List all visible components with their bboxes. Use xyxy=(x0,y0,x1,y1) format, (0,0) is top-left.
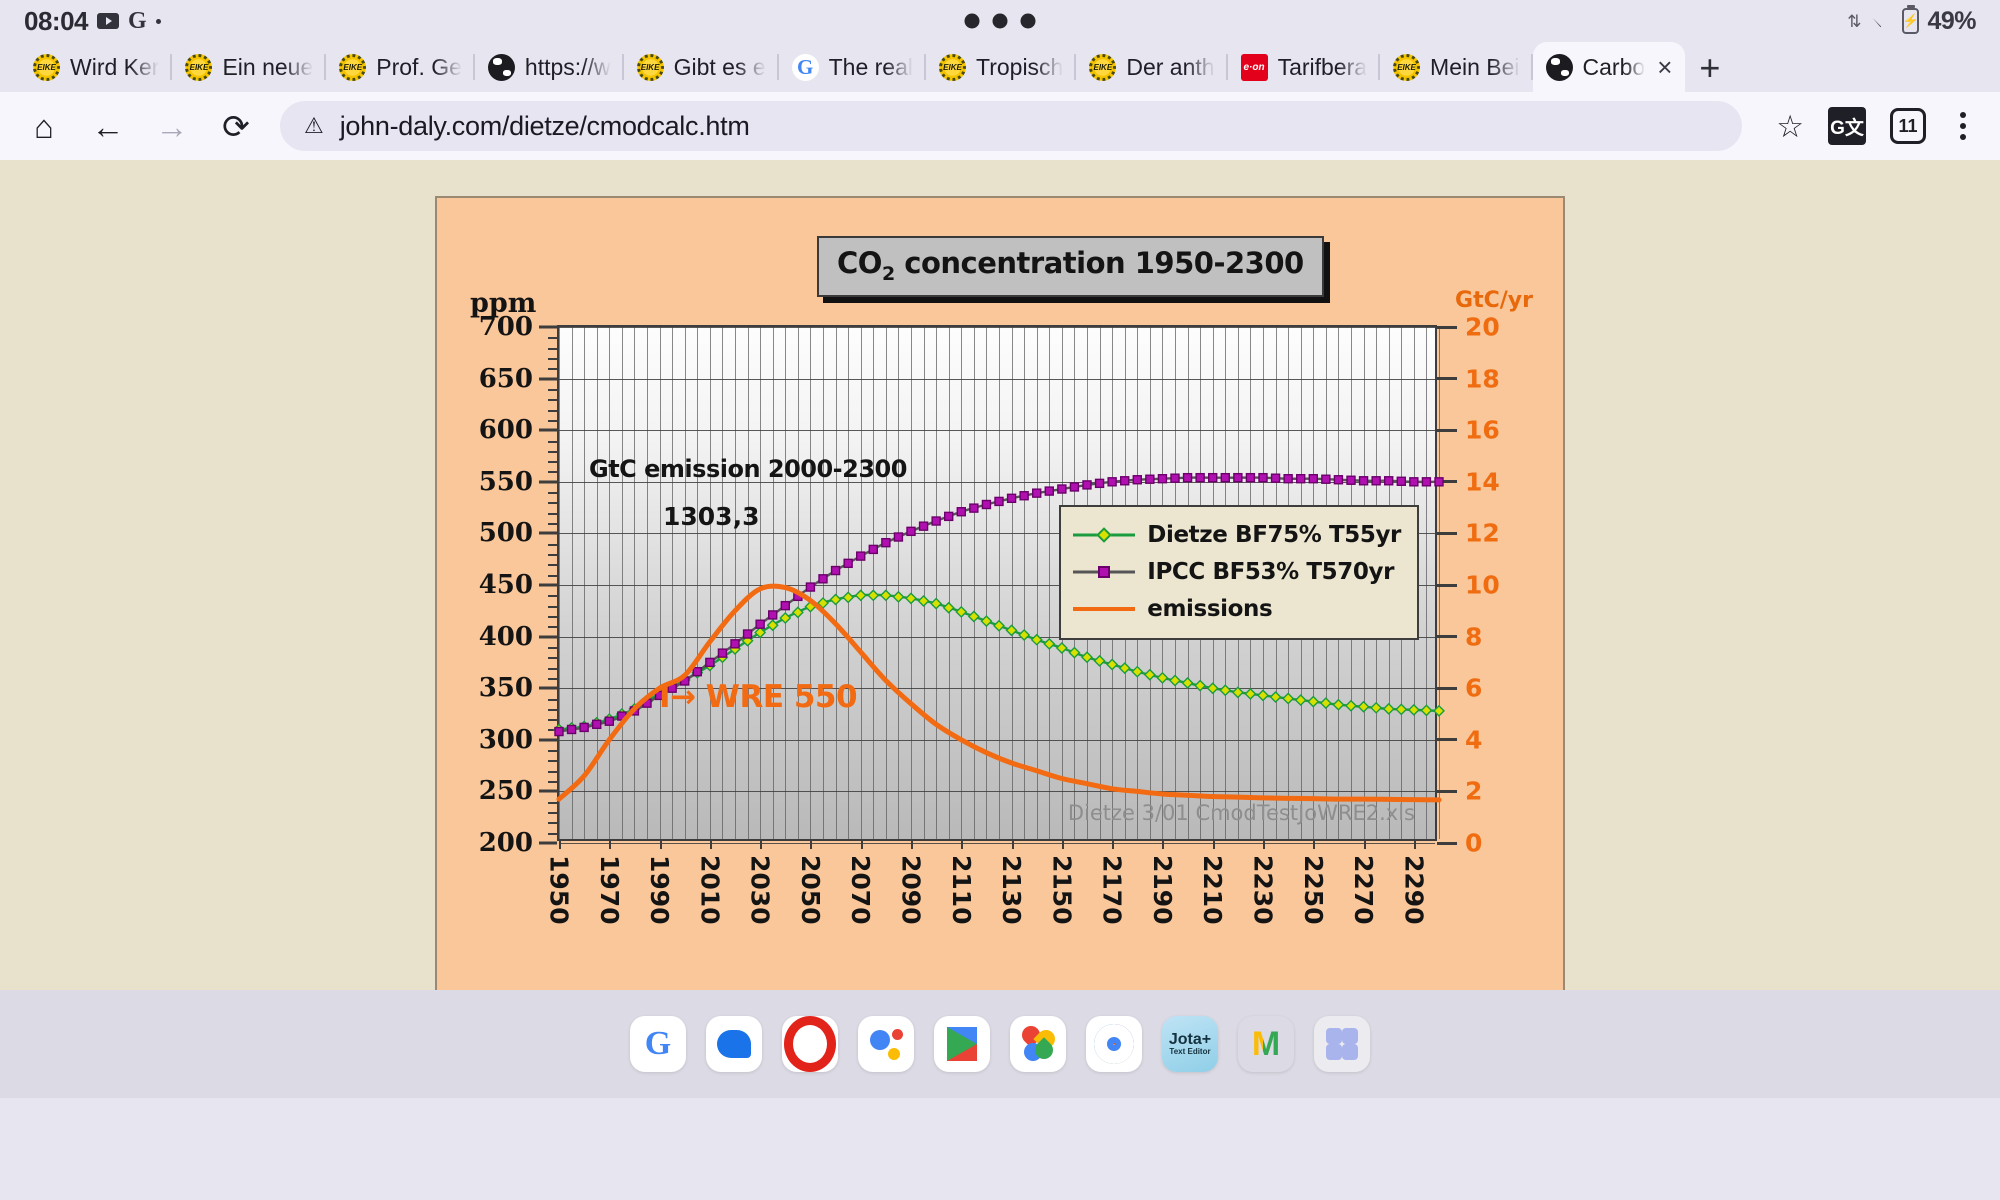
battery-percent: 49% xyxy=(1927,7,1976,36)
x-axis-tick-label: 2010 xyxy=(695,855,724,925)
data-point-marker xyxy=(1410,478,1418,486)
home-icon[interactable]: ⌂ xyxy=(24,106,64,146)
y-axis-left-tick-label: 450 xyxy=(449,570,559,600)
updown-arrows-icon: ⇅ xyxy=(1847,13,1861,30)
y-axis-left-minor-tick xyxy=(548,760,559,762)
y-axis-left-minor-tick xyxy=(548,502,559,504)
tab-label: Prof. Ge xyxy=(376,54,462,81)
data-point-marker xyxy=(1096,479,1104,487)
data-point-marker xyxy=(1019,630,1029,640)
dot-icon xyxy=(156,19,161,24)
data-point-marker xyxy=(1058,485,1066,493)
eike-icon: EIKE xyxy=(185,54,212,81)
square-marker-icon xyxy=(1098,566,1110,578)
chart-title: CO2 concentration 1950-2300 xyxy=(817,236,1324,297)
data-point-marker xyxy=(1360,477,1368,485)
data-point-marker xyxy=(1283,694,1293,704)
google-messages-icon[interactable] xyxy=(706,1016,762,1072)
eike-icon: EIKE xyxy=(339,54,366,81)
y-axis-left-tick-label: 700 xyxy=(449,312,559,342)
data-point-marker xyxy=(831,594,841,604)
data-point-marker xyxy=(793,607,803,617)
data-point-marker xyxy=(744,630,752,638)
battery-charging-icon: ⚡ xyxy=(1902,8,1919,34)
x-axis-tick-label: 2110 xyxy=(947,855,976,925)
data-point-marker xyxy=(882,539,890,547)
google-assistant-icon[interactable] xyxy=(858,1016,914,1072)
y-axis-left-tick-label: 300 xyxy=(449,725,559,755)
data-point-marker xyxy=(945,512,953,520)
legend-item-ipcc: IPCC BF53% T570yr xyxy=(1073,553,1401,590)
data-point-marker xyxy=(1271,692,1281,702)
eon-icon: e·on xyxy=(1241,54,1268,81)
y-axis-left-minor-tick xyxy=(548,833,559,835)
chart-title-pre: CO xyxy=(837,246,882,280)
data-point-marker xyxy=(1409,705,1419,715)
y-axis-left-minor-tick xyxy=(548,389,559,391)
y-axis-left-minor-tick xyxy=(548,750,559,752)
legend-key-emissions xyxy=(1073,600,1135,618)
data-point-marker xyxy=(869,545,877,553)
data-point-marker xyxy=(1184,474,1192,482)
chart-title-post: concentration 1950-2300 xyxy=(895,246,1304,280)
eike-icon: EIKE xyxy=(33,54,60,81)
legend-item-emissions: emissions xyxy=(1073,590,1401,627)
youtube-icon xyxy=(97,13,119,29)
y-axis-right-tick-label: 2 xyxy=(1435,777,1525,806)
x-axis-tick-label: 2150 xyxy=(1047,855,1076,925)
data-point-marker xyxy=(1133,476,1141,484)
data-point-marker xyxy=(1334,476,1342,484)
eike-icon: EIKE xyxy=(1089,54,1116,81)
data-point-marker xyxy=(920,522,928,530)
y-axis-left-minor-tick xyxy=(548,358,559,360)
y-axis-right-tick-label: 18 xyxy=(1435,364,1525,393)
data-point-marker xyxy=(956,607,966,617)
tab-tarifbera[interactable]: e·on Tarifbera xyxy=(1228,42,1380,92)
diamond-marker-icon xyxy=(1097,527,1113,543)
tab-label: https://w xyxy=(525,54,611,81)
tab-der-anth[interactable]: EIKE Der anth xyxy=(1076,42,1227,92)
data-point-marker xyxy=(832,567,840,575)
data-point-marker xyxy=(1208,683,1218,693)
data-point-marker xyxy=(906,593,916,603)
y-axis-left-minor-tick xyxy=(548,410,559,412)
y-axis-left-minor-tick xyxy=(548,575,559,577)
star-icon[interactable]: ☆ xyxy=(1776,111,1804,142)
tab-label: Wird Ker xyxy=(70,54,159,81)
data-point-marker xyxy=(1245,689,1255,699)
data-point-marker xyxy=(1033,489,1041,497)
data-point-marker xyxy=(1196,474,1204,482)
data-point-marker xyxy=(780,613,790,623)
data-point-marker xyxy=(1195,681,1205,691)
y-axis-right-tick-label: 10 xyxy=(1435,571,1525,600)
data-point-marker xyxy=(969,611,979,621)
data-point-marker xyxy=(1422,478,1430,486)
tab-tropisch[interactable]: EIKE Tropisch xyxy=(926,42,1076,92)
data-point-marker xyxy=(957,508,965,516)
x-axis-tick-label: 2130 xyxy=(997,855,1026,925)
x-axis-tick-label: 1950 xyxy=(545,855,574,925)
data-point-marker xyxy=(1170,675,1180,685)
data-point-marker xyxy=(706,658,714,666)
x-axis-tick-label: 2190 xyxy=(1148,855,1177,925)
legend-key-dietze xyxy=(1073,526,1135,544)
data-point-marker xyxy=(932,517,940,525)
data-point-marker xyxy=(944,603,954,613)
x-axis-tick-label: 2050 xyxy=(796,855,825,925)
jota-text-editor-icon[interactable]: Jota+ Text Editor xyxy=(1162,1016,1218,1072)
google-photos-icon[interactable] xyxy=(1010,1016,1066,1072)
data-point-marker xyxy=(1083,481,1091,489)
tab-label: Ein neue xyxy=(222,54,313,81)
x-axis-tick-label: 2290 xyxy=(1399,855,1428,925)
tab-carbo-active[interactable]: Carbo × xyxy=(1533,42,1686,92)
kebab-menu-icon[interactable] xyxy=(1950,108,1976,144)
data-point-marker xyxy=(1146,475,1154,483)
y-axis-left-minor-tick xyxy=(548,492,559,494)
data-point-marker xyxy=(1259,474,1267,482)
data-point-marker xyxy=(1435,478,1443,486)
data-point-marker xyxy=(1309,475,1317,483)
data-point-marker xyxy=(1121,477,1129,485)
google-icon: G xyxy=(128,8,147,35)
y-axis-left-minor-tick xyxy=(548,461,559,463)
y-axis-left-tick-label: 200 xyxy=(449,828,559,858)
tab-wird-ker[interactable]: EIKE Wird Ker xyxy=(20,42,172,92)
x-axis-tick-label: 2270 xyxy=(1349,855,1378,925)
y-axis-left-minor-tick xyxy=(548,802,559,804)
x-axis-tick-label: 2090 xyxy=(897,855,926,925)
data-point-marker xyxy=(1032,635,1042,645)
data-point-marker xyxy=(1284,475,1292,483)
y-axis-left-minor-tick xyxy=(548,348,559,350)
y-axis-left-minor-tick xyxy=(548,420,559,422)
data-point-marker xyxy=(1385,477,1393,485)
data-point-marker xyxy=(894,533,902,541)
data-point-marker xyxy=(843,592,853,602)
eike-icon: EIKE xyxy=(939,54,966,81)
play-store-icon[interactable] xyxy=(934,1016,990,1072)
data-point-marker xyxy=(1384,704,1394,714)
figure-image: CO2 concentration 1950-2300 ppm GtC/yr 7… xyxy=(435,196,1565,1006)
y-axis-left-tick-label: 500 xyxy=(449,518,559,548)
close-icon[interactable]: × xyxy=(1657,54,1672,80)
data-point-marker xyxy=(1145,670,1155,680)
tab-strip: EIKE Wird Ker EIKE Ein neue EIKE Prof. G… xyxy=(0,42,2000,92)
google-translate-icon[interactable]: G⽂ xyxy=(1828,107,1866,145)
data-point-marker xyxy=(718,649,726,657)
data-point-marker xyxy=(981,616,991,626)
y-axis-left-minor-tick xyxy=(548,595,559,597)
chart-legend: Dietze BF75% T55yr IPCC BF53% T570yr emi… xyxy=(1059,505,1419,640)
opera-icon[interactable] xyxy=(782,1016,838,1072)
data-point-marker xyxy=(1045,487,1053,495)
data-point-marker xyxy=(1234,474,1242,482)
data-point-marker xyxy=(844,559,852,567)
data-point-marker xyxy=(1070,483,1078,491)
y-axis-right-label: GtC/yr xyxy=(1455,288,1533,313)
gmail-icon[interactable]: M xyxy=(1238,1016,1294,1072)
tab-prof-ge[interactable]: EIKE Prof. Ge xyxy=(326,42,475,92)
data-point-marker xyxy=(769,611,777,619)
data-point-marker xyxy=(1171,474,1179,482)
data-point-marker xyxy=(806,583,814,591)
y-axis-left-minor-tick xyxy=(548,657,559,659)
y-axis-left-minor-tick xyxy=(548,699,559,701)
data-point-marker xyxy=(1120,663,1130,673)
browser-toolbar: ⌂ ← → ⟳ ⚠ john-daly.com/dietze/cmodcalc.… xyxy=(0,92,2000,160)
google-icon: G xyxy=(792,54,819,81)
legend-item-dietze: Dietze BF75% T55yr xyxy=(1073,516,1401,553)
y-axis-left-minor-tick xyxy=(548,471,559,473)
y-axis-right-tick-label: 4 xyxy=(1435,725,1525,754)
data-point-marker xyxy=(1246,474,1254,482)
dot-icon xyxy=(1021,14,1036,29)
plot-area: 700650600550500450400350300250200 201816… xyxy=(557,325,1437,841)
data-point-marker xyxy=(1107,659,1117,669)
y-axis-left-tick-label: 400 xyxy=(449,622,559,652)
data-point-marker xyxy=(1372,477,1380,485)
wre-scenario-label: I→ WRE 550 xyxy=(659,679,857,715)
data-point-marker xyxy=(693,668,701,676)
data-point-marker xyxy=(593,720,601,728)
y-axis-left-minor-tick xyxy=(548,544,559,546)
google-search-icon[interactable]: G xyxy=(630,1016,686,1072)
data-point-marker xyxy=(893,592,903,602)
y-axis-right-tick-label: 0 xyxy=(1435,829,1525,858)
data-point-marker xyxy=(982,501,990,509)
x-axis-tick-label: 2070 xyxy=(846,855,875,925)
tab-label: The real xyxy=(829,54,913,81)
data-point-marker xyxy=(1157,673,1167,683)
x-axis-tick-label: 2230 xyxy=(1249,855,1278,925)
app-drawer-icon[interactable] xyxy=(1314,1016,1370,1072)
y-axis-left-minor-tick xyxy=(548,709,559,711)
data-point-marker xyxy=(781,602,789,610)
y-axis-left-tick-label: 250 xyxy=(449,776,559,806)
data-point-marker xyxy=(907,527,915,535)
new-tab-button[interactable]: + xyxy=(1699,50,1720,86)
data-point-marker xyxy=(1258,690,1268,700)
status-bar-right: ⇅ ⚡ 49% xyxy=(1847,7,1976,36)
y-axis-left-minor-tick xyxy=(548,626,559,628)
jota-label: Jota+ xyxy=(1169,1031,1211,1049)
eike-icon: EIKE xyxy=(637,54,664,81)
y-axis-left-tick-label: 650 xyxy=(449,364,559,394)
data-point-marker xyxy=(1347,476,1355,484)
y-axis-left-minor-tick xyxy=(548,719,559,721)
tab-label: Gibt es e xyxy=(674,54,766,81)
tab-ein-neue[interactable]: EIKE Ein neue xyxy=(172,42,326,92)
y-axis-left-minor-tick xyxy=(548,781,559,783)
tab-label: Tarifbera xyxy=(1278,54,1367,81)
forward-arrow-icon[interactable]: → xyxy=(152,106,192,146)
y-axis-left-minor-tick xyxy=(548,337,559,339)
tab-label: Carbo xyxy=(1583,54,1646,81)
legend-label: emissions xyxy=(1147,596,1272,622)
data-point-marker xyxy=(1008,494,1016,502)
data-point-marker xyxy=(994,621,1004,631)
data-point-marker xyxy=(568,725,576,733)
y-axis-left-minor-tick xyxy=(548,523,559,525)
tab-label: Mein Bei xyxy=(1430,54,1519,81)
tab-https[interactable]: https://w xyxy=(475,42,624,92)
data-point-marker xyxy=(555,728,563,736)
tab-count-button[interactable]: 11 xyxy=(1890,108,1926,144)
x-axis-tick-label: 2030 xyxy=(746,855,775,925)
y-axis-left-tick-label: 550 xyxy=(449,467,559,497)
data-point-marker xyxy=(1346,701,1356,711)
y-axis-left-tick-label: 350 xyxy=(449,673,559,703)
camera-punchhole-dots xyxy=(965,14,1036,29)
data-point-marker xyxy=(1108,478,1116,486)
data-point-marker xyxy=(1209,474,1217,482)
y-axis-right-tick-label: 14 xyxy=(1435,467,1525,496)
y-axis-left-minor-tick xyxy=(548,771,559,773)
data-point-marker xyxy=(605,717,613,725)
data-point-marker xyxy=(1321,698,1331,708)
data-point-marker xyxy=(868,590,878,600)
page-content: CO2 concentration 1950-2300 ppm GtC/yr 7… xyxy=(0,160,2000,1098)
x-axis-tick-label: 2210 xyxy=(1198,855,1227,925)
data-point-marker xyxy=(931,599,941,609)
data-point-marker xyxy=(919,596,929,606)
y-axis-right-tick-label: 6 xyxy=(1435,674,1525,703)
y-axis-left-minor-tick xyxy=(548,441,559,443)
dot-icon xyxy=(993,14,1008,29)
data-point-marker xyxy=(756,620,764,628)
data-point-marker xyxy=(1158,475,1166,483)
data-point-marker xyxy=(970,504,978,512)
y-axis-right-tick-label: 8 xyxy=(1435,622,1525,651)
data-point-marker xyxy=(1421,705,1431,715)
data-point-marker xyxy=(731,640,739,648)
data-point-marker xyxy=(857,552,865,560)
y-axis-left-minor-tick xyxy=(548,812,559,814)
data-point-marker xyxy=(819,575,827,583)
y-axis-left-minor-tick xyxy=(548,616,559,618)
legend-key-ipcc xyxy=(1073,563,1135,581)
reload-icon[interactable]: ⟳ xyxy=(216,106,256,146)
y-axis-left-minor-tick xyxy=(548,513,559,515)
x-axis-tick-label: 2170 xyxy=(1098,855,1127,925)
data-point-marker xyxy=(1233,687,1243,697)
data-point-marker xyxy=(1308,697,1318,707)
url-text: john-daly.com/dietze/cmodcalc.htm xyxy=(340,111,750,142)
emission-total-value: 1303,3 xyxy=(663,502,759,531)
not-secure-warning-icon: ⚠ xyxy=(304,115,324,137)
data-point-marker xyxy=(1397,477,1405,485)
y-axis-right-tick-label: 20 xyxy=(1435,313,1525,342)
data-point-marker xyxy=(1272,474,1280,482)
data-point-marker xyxy=(580,723,588,731)
chart-title-sub: 2 xyxy=(882,263,895,285)
y-axis-left-minor-tick xyxy=(548,554,559,556)
address-bar[interactable]: ⚠ john-daly.com/dietze/cmodcalc.htm xyxy=(280,101,1742,151)
legend-label: IPCC BF53% T570yr xyxy=(1147,559,1394,585)
data-point-marker xyxy=(1057,643,1067,653)
y-axis-left-minor-tick xyxy=(548,399,559,401)
globe-icon xyxy=(488,54,515,81)
data-point-marker xyxy=(995,497,1003,505)
dot-icon xyxy=(965,14,980,29)
jota-sublabel: Text Editor xyxy=(1169,1048,1210,1057)
data-point-marker xyxy=(1396,704,1406,714)
y-axis-left-minor-tick xyxy=(548,647,559,649)
data-point-marker xyxy=(1132,667,1142,677)
data-point-marker xyxy=(1322,475,1330,483)
status-clock: 08:04 xyxy=(24,6,88,37)
tab-the-real[interactable]: G The real xyxy=(779,42,926,92)
data-point-marker xyxy=(1082,652,1092,662)
tab-label: Tropisch xyxy=(976,54,1063,81)
x-axis-tick-label: 1970 xyxy=(595,855,624,925)
y-axis-right-tick-label: 16 xyxy=(1435,416,1525,445)
tab-label: Der anth xyxy=(1126,54,1214,81)
tab-mein-bei[interactable]: EIKE Mein Bei xyxy=(1380,42,1532,92)
y-axis-left-minor-tick xyxy=(548,822,559,824)
y-axis-left-minor-tick xyxy=(548,451,559,453)
y-axis-left-tick-label: 600 xyxy=(449,415,559,445)
y-axis-left-minor-tick xyxy=(548,668,559,670)
status-bar-left: 08:04 G xyxy=(24,6,161,37)
y-axis-left-minor-tick xyxy=(548,368,559,370)
globe-icon xyxy=(1546,54,1573,81)
data-point-marker xyxy=(1220,685,1230,695)
wifi-icon xyxy=(1869,12,1894,30)
legend-label: Dietze BF75% T55yr xyxy=(1147,522,1401,548)
x-axis-tick-label: 1990 xyxy=(645,855,674,925)
data-point-marker xyxy=(1095,656,1105,666)
data-point-marker xyxy=(1371,703,1381,713)
y-axis-right-tick-label: 12 xyxy=(1435,519,1525,548)
back-arrow-icon[interactable]: ← xyxy=(88,106,128,146)
tab-gibt-es[interactable]: EIKE Gibt es e xyxy=(624,42,779,92)
data-point-marker xyxy=(1007,625,1017,635)
data-point-marker xyxy=(1044,639,1054,649)
data-point-marker xyxy=(1221,474,1229,482)
data-point-marker xyxy=(856,590,866,600)
data-point-marker xyxy=(1434,706,1444,716)
data-point-marker xyxy=(1359,702,1369,712)
chrome-icon[interactable] xyxy=(1086,1016,1142,1072)
data-point-marker xyxy=(1296,695,1306,705)
emission-total-label: GtC emission 2000-2300 xyxy=(589,455,907,483)
data-point-marker xyxy=(1333,700,1343,710)
data-point-marker xyxy=(1020,492,1028,500)
data-point-marker xyxy=(1297,475,1305,483)
status-bar: 08:04 G ⇅ ⚡ 49% xyxy=(0,0,2000,42)
y-axis-left-minor-tick xyxy=(548,564,559,566)
app-dock: G Jota+ Text Editor M xyxy=(0,990,2000,1098)
y-axis-left-minor-tick xyxy=(548,606,559,608)
eike-icon: EIKE xyxy=(1393,54,1420,81)
data-point-marker xyxy=(1069,648,1079,658)
source-watermark: Dietze 3/01 CmodTestJoWRE2.xls xyxy=(1068,801,1415,825)
data-point-marker xyxy=(1183,678,1193,688)
data-point-marker xyxy=(881,590,891,600)
x-axis-tick-label: 2250 xyxy=(1299,855,1328,925)
y-axis-left-minor-tick xyxy=(548,678,559,680)
